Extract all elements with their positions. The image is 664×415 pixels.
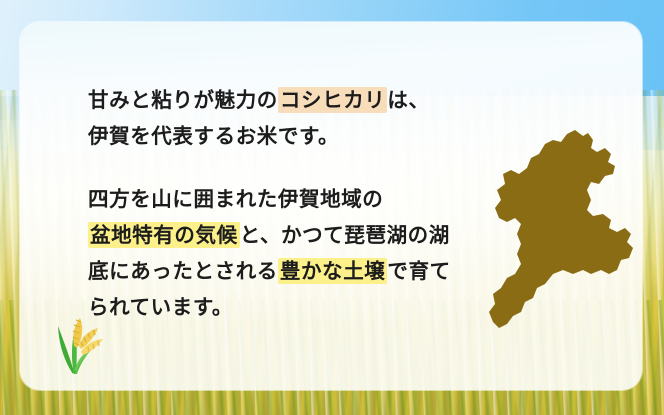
- copy-text: 四方を山に囲まれた伊賀地域の: [88, 187, 383, 211]
- promo-copy: 甘みと粘りが魅力のコシヒカリは、伊賀を代表するお米です。四方を山に囲まれた伊賀地…: [88, 82, 488, 325]
- copy-line: 伊賀を代表するお米です。: [88, 118, 488, 154]
- copy-line: 盆地特有の気候と、かつて琵琶湖の湖: [88, 217, 488, 253]
- promo-banner: 甘みと粘りが魅力のコシヒカリは、伊賀を代表するお米です。四方を山に囲まれた伊賀地…: [0, 0, 664, 415]
- copy-line: 四方を山に囲まれた伊賀地域の: [88, 181, 488, 217]
- copy-text: と、かつて琵琶湖の湖: [240, 223, 450, 247]
- paragraph-climate-soil: 四方を山に囲まれた伊賀地域の盆地特有の気候と、かつて琵琶湖の湖底にあったとされる…: [88, 181, 488, 325]
- copy-text: 甘みと粘りが魅力の: [88, 88, 278, 112]
- copy-line: られています。: [88, 289, 488, 325]
- highlighted-term: 豊かな土壌: [278, 258, 388, 284]
- mie-prefecture-map: [487, 128, 639, 333]
- copy-line: 底にあったとされる豊かな土壌で育て: [88, 253, 488, 289]
- copy-text: 伊賀を代表するお米です。: [88, 124, 339, 148]
- paragraph-koshihikari: 甘みと粘りが魅力のコシヒカリは、伊賀を代表するお米です。: [88, 82, 488, 154]
- highlighted-term: 盆地特有の気候: [88, 222, 240, 248]
- copy-text: は、: [387, 88, 429, 112]
- mie-prefecture-path: [489, 130, 633, 328]
- copy-text: られています。: [88, 295, 233, 319]
- copy-text: 底にあったとされる: [88, 259, 278, 283]
- highlighted-term: コシヒカリ: [278, 87, 388, 113]
- copy-text: で育て: [387, 259, 450, 283]
- copy-line: 甘みと粘りが魅力のコシヒカリは、: [88, 82, 488, 118]
